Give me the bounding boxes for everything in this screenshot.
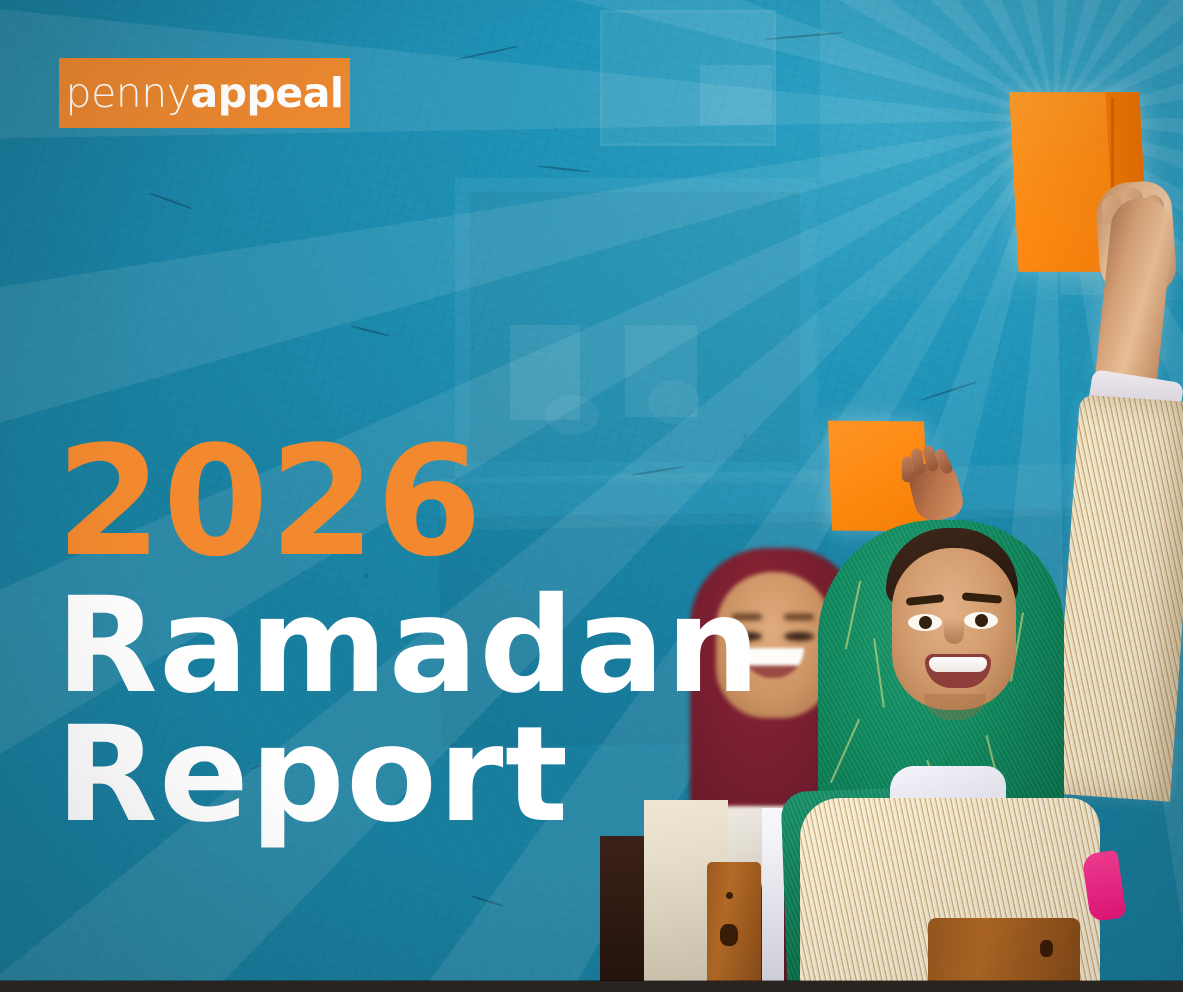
logo-word-penny: penny xyxy=(66,69,191,117)
chair-screw-hole xyxy=(726,892,733,899)
cover-headline: 2026 Ramadan Report xyxy=(56,432,761,845)
chair-knot-hole xyxy=(1040,940,1053,957)
logo-word-appeal: appeal xyxy=(191,69,344,117)
girl-green-nose xyxy=(944,618,964,644)
chair-knot-hole xyxy=(720,924,738,946)
report-cover-page: pennyappeal 2026 Ramadan Report xyxy=(0,0,1183,992)
dark-chair-edge xyxy=(600,836,646,992)
page-edge-hairline xyxy=(0,980,1183,981)
logo-wordmark: pennyappeal xyxy=(66,73,344,114)
girl-green-teeth xyxy=(929,657,987,672)
headline-line-ramadan: Ramadan xyxy=(56,586,761,707)
penny-appeal-logo[interactable]: pennyappeal xyxy=(59,58,350,128)
uniform-white-strip xyxy=(762,808,784,992)
headline-line-report: Report xyxy=(56,715,761,836)
page-bottom-edge xyxy=(0,981,1183,992)
wooden-chair-back xyxy=(707,862,761,992)
headline-year: 2026 xyxy=(56,432,761,572)
